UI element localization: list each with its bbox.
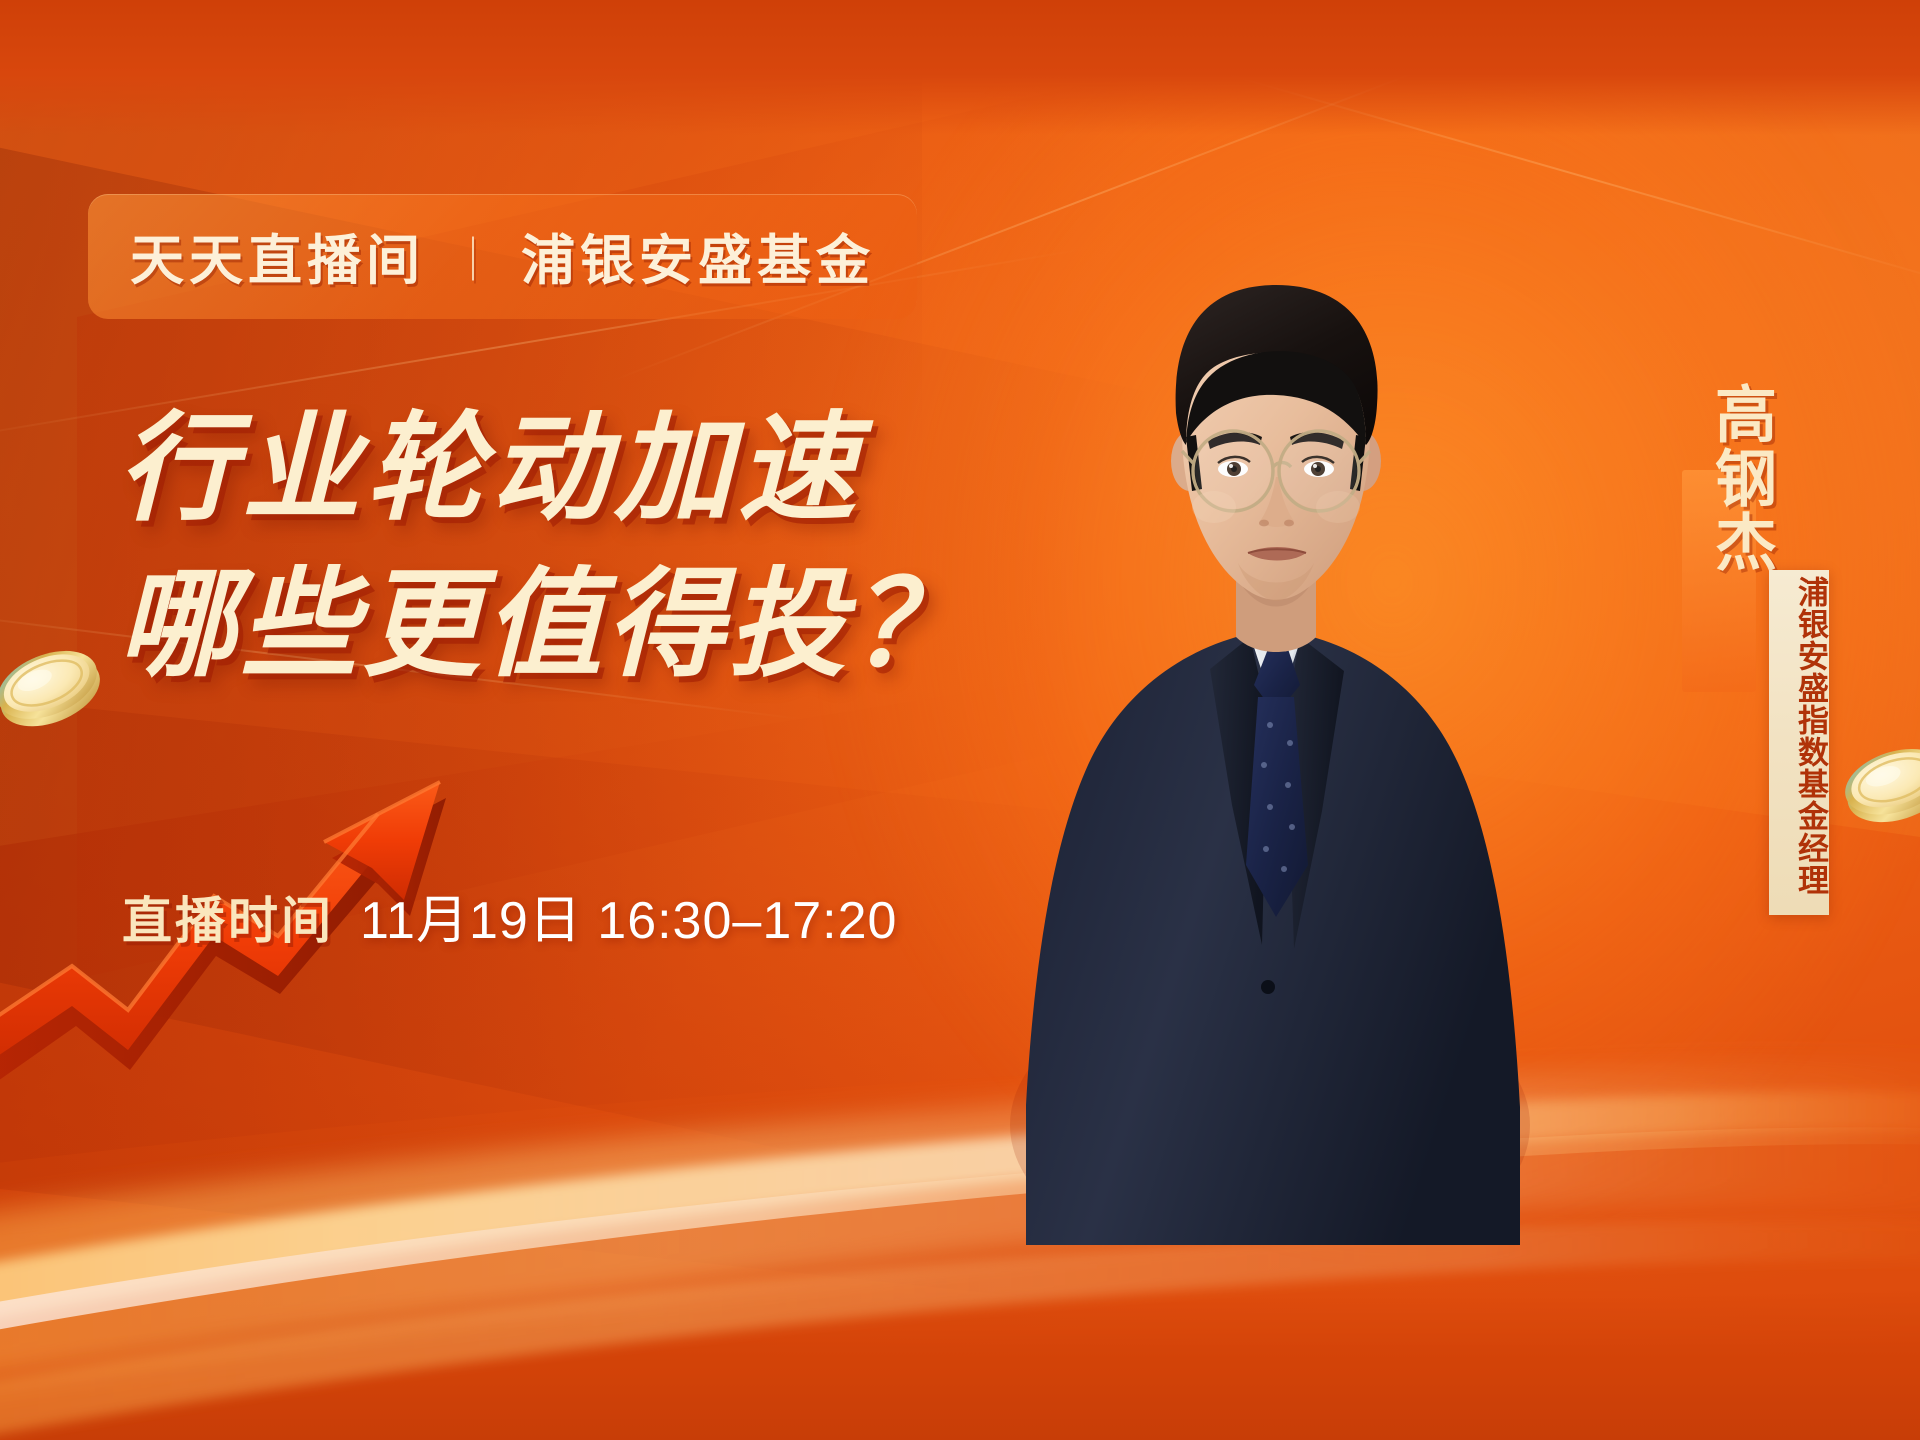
badge-separator: ｜ <box>451 224 495 288</box>
bottom-band <box>0 1290 1920 1440</box>
headline: 行业轮动加速 哪些更值得投？ <box>118 392 1098 704</box>
live-time-row: 直播时间 11月19日 16:30–17:20 <box>122 878 897 953</box>
badge-brand-right: 浦银安盛基金 <box>521 216 875 295</box>
live-time-value: 11月19日 16:30–17:20 <box>360 878 897 953</box>
live-promo-banner: 天天直播间 ｜ 浦银安盛基金 行业轮动加速 哪些更值得投？ 直播时间 11月19… <box>0 0 1920 1440</box>
top-band <box>0 0 1920 135</box>
presenter-name: 高钢杰 <box>1676 382 1772 574</box>
channel-badge: 天天直播间 ｜ 浦银安盛基金 <box>88 194 917 319</box>
badge-brand-left: 天天直播间 <box>130 216 425 295</box>
headline-line-2: 哪些更值得投？ <box>118 548 1098 704</box>
live-time-label: 直播时间 <box>122 881 334 953</box>
presenter-title: 浦银安盛指数基金经理 <box>1771 576 1827 896</box>
headline-line-1: 行业轮动加速 <box>118 392 1098 548</box>
